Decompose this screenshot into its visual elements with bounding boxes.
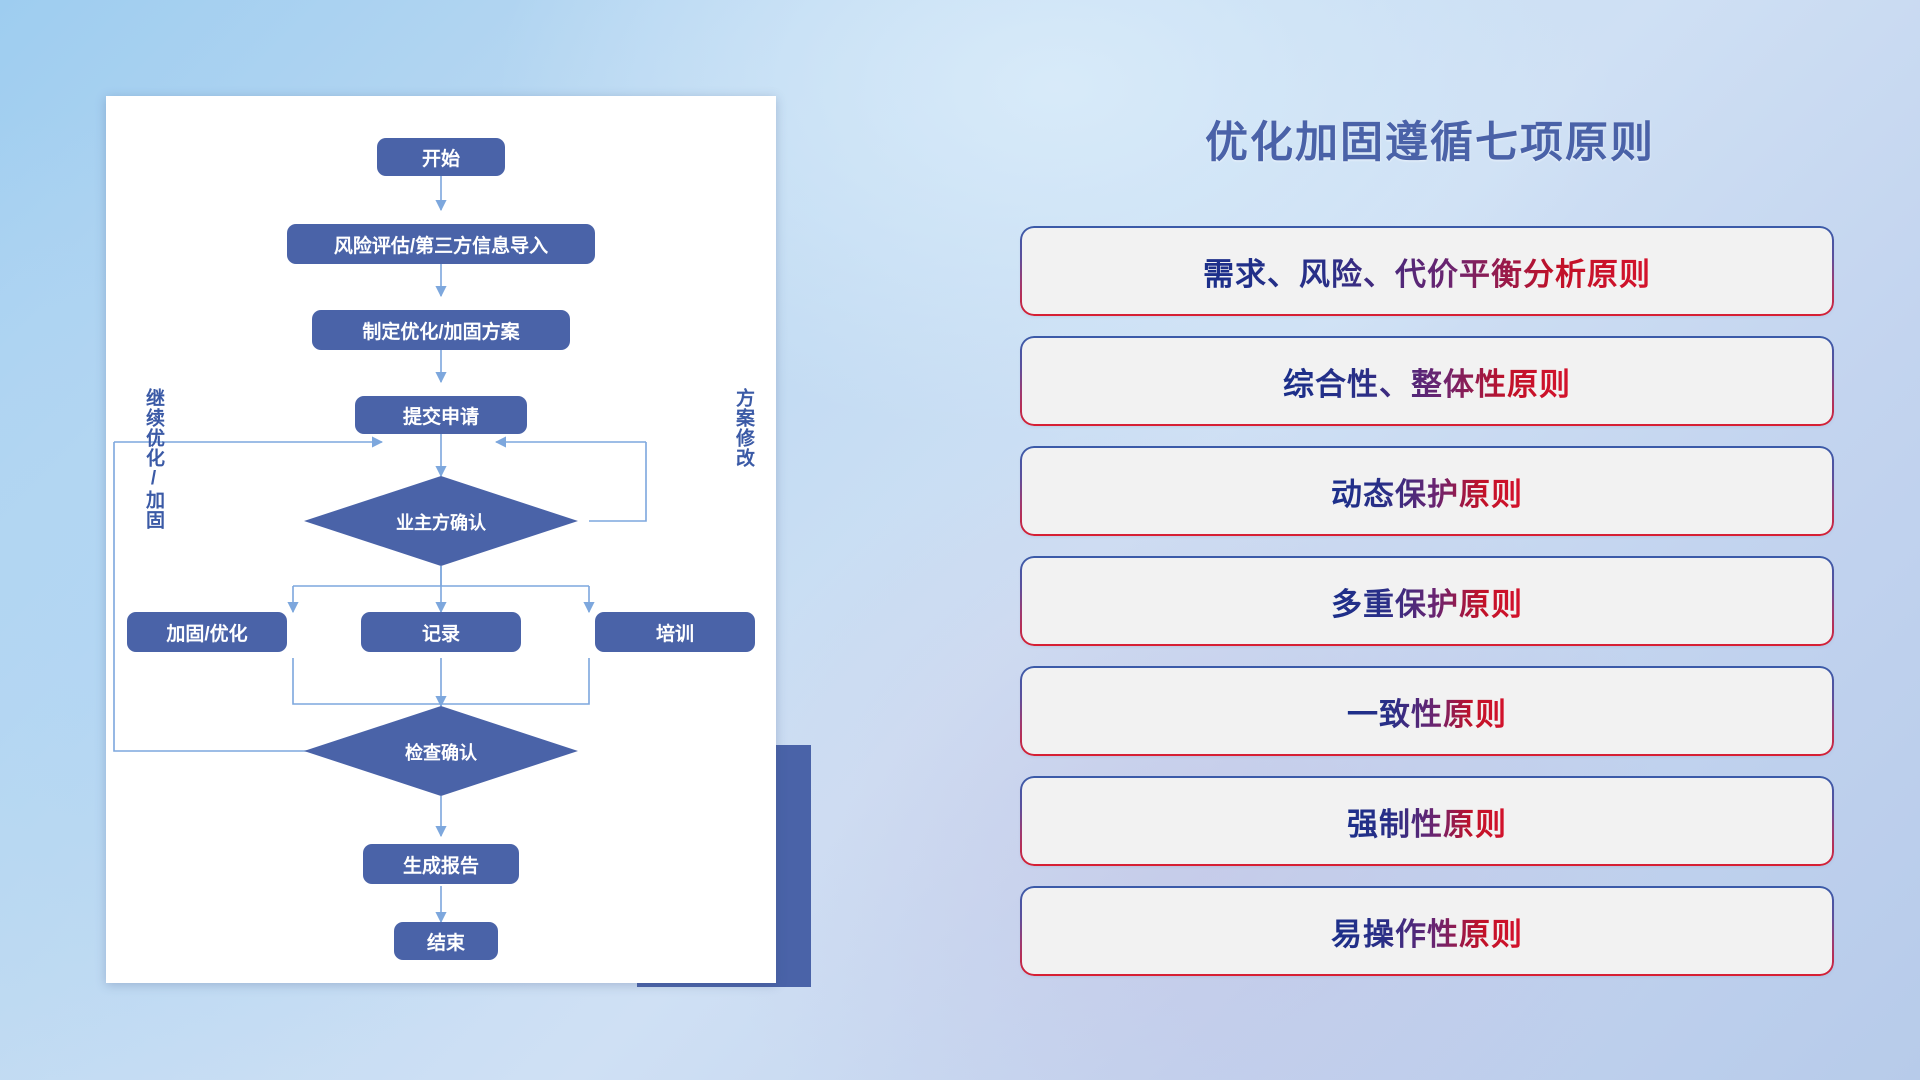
principle-card-label: 一致性原则	[1347, 689, 1507, 734]
principles-card-list: 需求、风险、代价平衡分析原则 综合性、整体性原则 动态保护原则 多重保护原则 一…	[1022, 228, 1832, 998]
principle-card-5[interactable]: 一致性原则	[1022, 668, 1832, 754]
principle-card-label: 综合性、整体性原则	[1283, 359, 1571, 404]
principle-card-3[interactable]: 动态保护原则	[1022, 448, 1832, 534]
principle-card-label: 易操作性原则	[1331, 909, 1523, 954]
flowchart-panel: 开始 风险评估/第三方信息导入 制定优化/加固方案 提交申请 业主方确认 加固/…	[0, 0, 860, 1080]
principle-card-label: 多重保护原则	[1331, 579, 1523, 624]
principle-card-label: 动态保护原则	[1331, 469, 1523, 514]
flow-edge-label-plan-revision: 方案修改	[730, 388, 757, 468]
principle-card-4[interactable]: 多重保护原则	[1022, 558, 1832, 644]
principle-card-7[interactable]: 易操作性原则	[1022, 888, 1832, 974]
flowchart-graphics	[106, 96, 776, 983]
principle-card-1[interactable]: 需求、风险、代价平衡分析原则	[1022, 228, 1832, 314]
principle-card-2[interactable]: 综合性、整体性原则	[1022, 338, 1832, 424]
flow-node-shapes	[127, 138, 755, 960]
principles-panel: 优化加固遵循七项原则 需求、风险、代价平衡分析原则 综合性、整体性原则 动态保护…	[1000, 0, 1920, 1080]
principle-card-label: 强制性原则	[1347, 799, 1507, 844]
principles-title: 优化加固遵循七项原则	[1000, 108, 1860, 170]
flow-edge-label-continue-optimize: 继续优化/加固	[140, 388, 167, 530]
principle-card-6[interactable]: 强制性原则	[1022, 778, 1832, 864]
principle-card-label: 需求、风险、代价平衡分析原则	[1203, 249, 1651, 294]
